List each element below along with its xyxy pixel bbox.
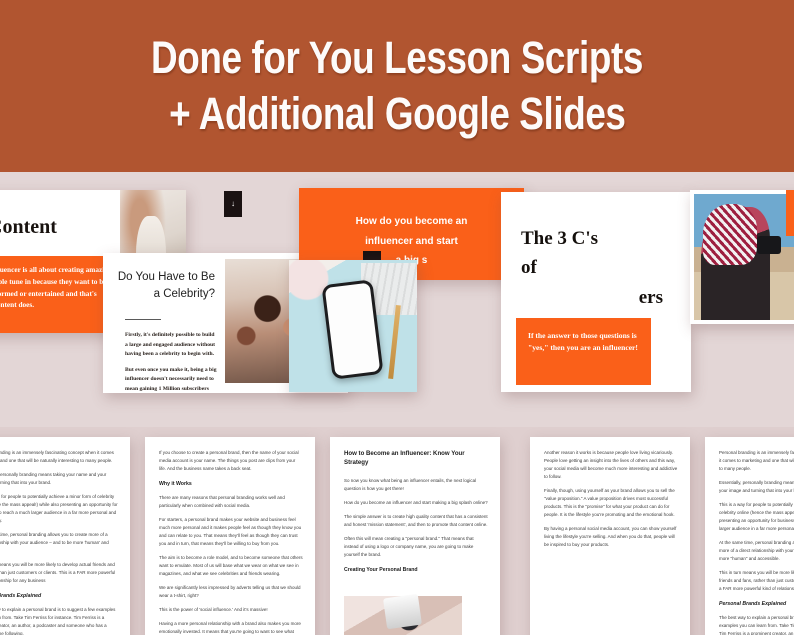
doc5-p3: This is a way for people to potentially … [719, 501, 794, 533]
slides-preview-strip: Content Being an influencer is all about… [0, 172, 794, 427]
doc4-p3: By having a personal social media accoun… [544, 525, 678, 549]
slide-photographer[interactable] [690, 190, 794, 324]
orange-edge-accent [786, 190, 794, 236]
banner-title-line-2: + Additional Google Slides [169, 88, 625, 140]
doc-page-5-body: Personal branding is an immensely fascin… [719, 449, 794, 635]
slide-phone-flatlay[interactable] [289, 260, 417, 392]
doc-page-3-body: How to Become an Influencer: Know Your S… [344, 449, 488, 635]
doc1-subheading: Personal Brands Explained [0, 593, 118, 601]
doc2-t6: Having a more personal relationship with… [159, 620, 303, 635]
three-cs-line-2: of [521, 253, 671, 282]
three-cs-line-1: The 3 C's [521, 224, 671, 253]
doc-page-2-body: If you choose to create a personal brand… [159, 449, 303, 635]
doc5-p2: Essentially, personally branding means t… [719, 479, 794, 495]
doc4-p1: Another reason it works is because peopl… [544, 449, 678, 481]
download-arrow-icon[interactable]: ↓ [224, 191, 242, 217]
doc3-p4: Often this will mean creating a "persona… [344, 535, 488, 559]
doc2-t2: For starters, a personal brand makes you… [159, 516, 303, 548]
doc1-p2: Essentially, personally branding means t… [0, 471, 118, 487]
camera-shape [757, 236, 782, 255]
doc3-p3: The simple answer is to create high qual… [344, 513, 488, 529]
slide-three-cs-orange-band: If the answer to those questions is "yes… [516, 318, 651, 385]
slide-how-line-2: influencer and start [299, 232, 524, 252]
phone-flatlay-photo [289, 260, 417, 392]
doc5-p1: Personal branding is an immensely fascin… [719, 449, 794, 473]
doc2-t5: This is the power of 'social influence.'… [159, 606, 303, 614]
doc1-p5: This in turn means you will be more like… [0, 561, 118, 585]
slide-three-cs-band-text: If the answer to those questions is "yes… [528, 330, 643, 355]
doc-page-4-body: Another reason it works is because peopl… [544, 449, 678, 555]
doc2-t3: The aim is to become a role model, and t… [159, 554, 303, 578]
slide-content-orange-band: Being an influencer is all about creatin… [0, 256, 120, 333]
doc2-subheading: Why it Works [159, 481, 303, 489]
document-pages-strip: Personal branding is an immensely fascin… [0, 427, 794, 635]
doc-page-1-body: Personal branding is an immensely fascin… [0, 449, 118, 635]
doc1-p1: Personal branding is an immensely fascin… [0, 449, 118, 465]
doc1-p3: This is a way for people to potentially … [0, 493, 118, 525]
doc5-subheading: Personal Brands Explained [719, 601, 794, 609]
slide-celebrity-para-1: Firstly, it's definitely possible to bui… [125, 331, 217, 360]
doc1-t1: The best way to explain a personal brand… [0, 606, 118, 635]
photographer-desert-photo [694, 194, 794, 320]
doc1-p4: At the same time, personal branding allo… [0, 531, 118, 555]
doc3-heading: How to Become an Influencer: Know Your S… [344, 449, 488, 468]
doc3-p2: How do you become an influencer and star… [344, 499, 488, 507]
slide-content-title: Content [0, 216, 57, 239]
doc4-p2: Finally, though, using yourself as your … [544, 487, 678, 519]
doc5-p4: At the same time, personal branding allo… [719, 539, 794, 563]
doc-page-2[interactable]: If you choose to create a personal brand… [145, 437, 315, 635]
doc-page-3[interactable]: How to Become an Influencer: Know Your S… [330, 437, 500, 635]
doc3-p1: So now you know what being an influencer… [344, 477, 488, 493]
doc3-subheading: Creating Your Personal Brand [344, 567, 488, 575]
doc2-t1: There are many reasons that personal bra… [159, 494, 303, 510]
slide-three-cs-title: The 3 C's of ers [521, 224, 671, 312]
doc5-t1: The best way to explain a personal brand… [719, 614, 794, 635]
doc2-p1: If you choose to create a personal brand… [159, 449, 303, 473]
doc-page-4[interactable]: Another reason it works is because peopl… [530, 437, 690, 635]
doc-page-1[interactable]: Personal branding is an immensely fascin… [0, 437, 130, 635]
slide-celebrity-body: Firstly, it's definitely possible to bui… [125, 331, 217, 393]
hand-holding-phone-photo [344, 596, 462, 635]
slide-content-body: Being an influencer is all about creatin… [0, 264, 112, 311]
header-banner: Done for You Lesson Scripts + Additional… [0, 0, 794, 172]
banner-title-line-1: Done for You Lesson Scripts [151, 32, 643, 84]
pen-shape [388, 305, 401, 379]
doc-page-5[interactable]: Personal branding is an immensely fascin… [705, 437, 794, 635]
doc2-t4: We are significantly less impressed by a… [159, 584, 303, 600]
three-cs-line-3: ers [521, 283, 671, 312]
slide-celebrity-para-2: But even once you make it, being a big i… [125, 366, 217, 393]
doc5-p5: This in turn means you will be more like… [719, 569, 794, 593]
slide-three-cs[interactable]: The 3 C's of ers If the answer to those … [501, 192, 691, 392]
slide-celebrity-title: Do You Have to Be a Celebrity? [117, 269, 215, 302]
scarf-shape [703, 204, 757, 264]
divider [125, 319, 161, 320]
slide-how-line-1: How do you become an [299, 212, 524, 232]
